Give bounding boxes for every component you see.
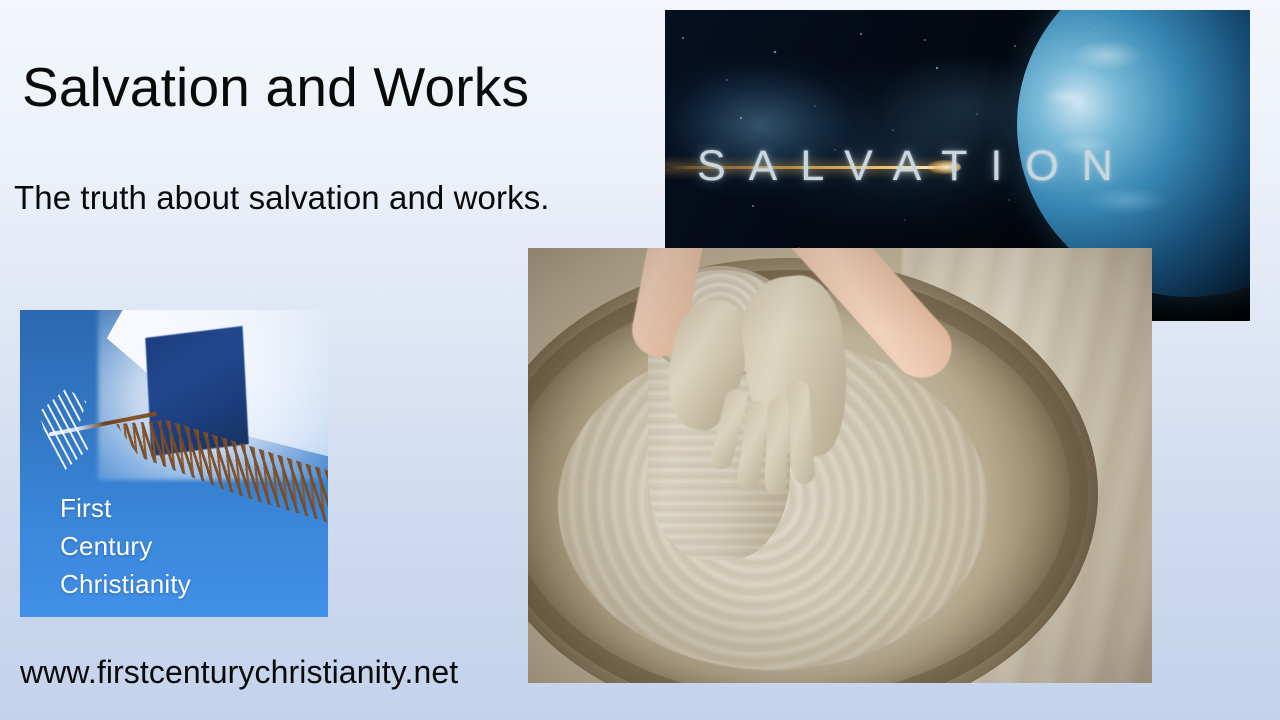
slide-subtitle: The truth about salvation and works. [14, 179, 550, 217]
photo-vignette [528, 248, 1152, 683]
logo-text-line-3: Christianity [60, 569, 191, 600]
page-title: Salvation and Works [22, 56, 529, 119]
website-url[interactable]: www.firstcenturychristianity.net [20, 654, 458, 691]
salvation-wordmark: SALVATION [697, 142, 1136, 191]
first-century-christianity-logo: First Century Christianity [20, 310, 328, 617]
logo-text-line-2: Century [60, 531, 152, 562]
pottery-photo [528, 248, 1152, 683]
logo-text-line-1: First [60, 493, 112, 524]
presentation-slide: Salvation and Works The truth about salv… [0, 0, 1280, 720]
